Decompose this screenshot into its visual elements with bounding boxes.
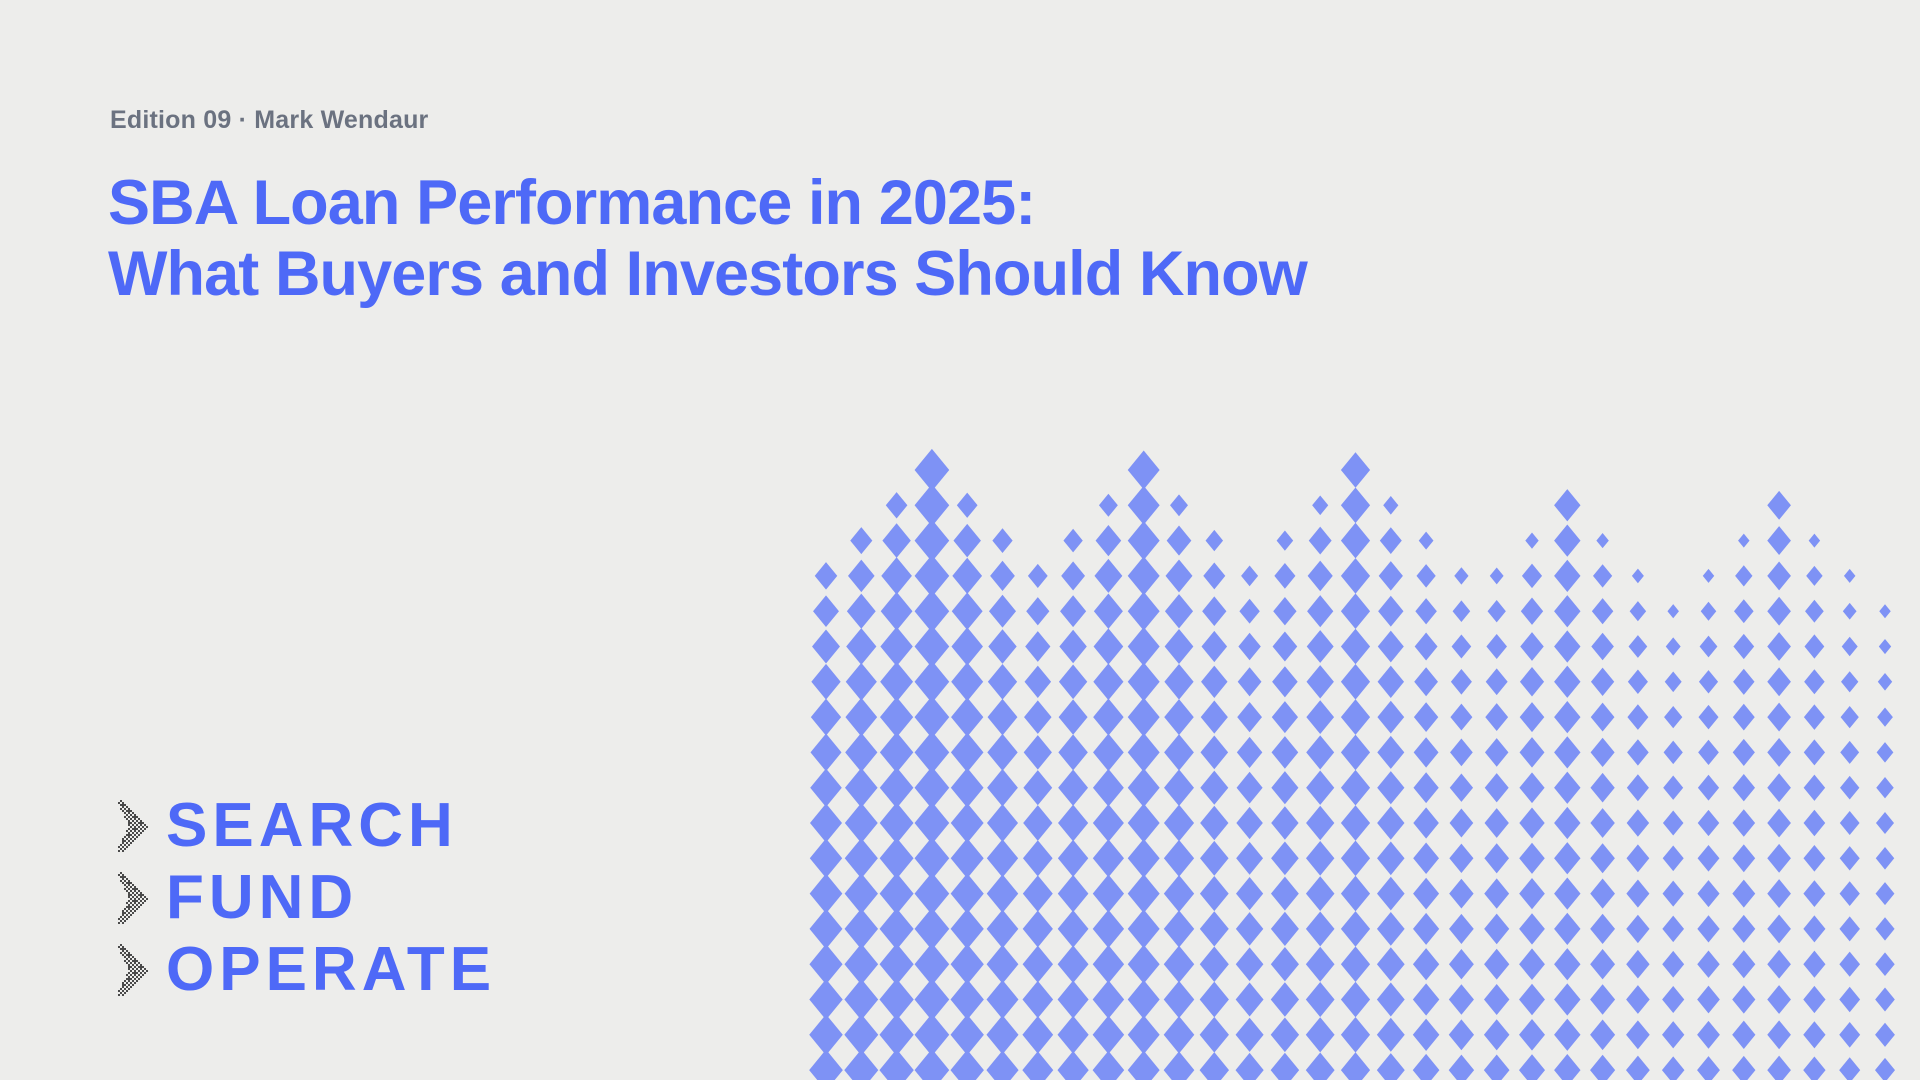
chevron-dither-cell xyxy=(134,834,136,836)
chevron-dither-cell xyxy=(144,900,146,902)
chevron-dither-cell xyxy=(128,906,130,908)
chevron-dither-cell xyxy=(136,964,138,966)
chevron-dither-cell xyxy=(122,994,124,996)
chevron-dither-cell xyxy=(126,882,128,884)
chevron-dither-cell xyxy=(130,822,132,824)
chevron-dither-cell xyxy=(122,950,124,952)
chevron-dither-cell xyxy=(128,812,130,814)
chevron-dither-cell xyxy=(130,886,132,888)
chevron-dither-cell xyxy=(122,806,124,808)
chevron-dither-cell xyxy=(132,980,134,982)
chevron-dither-cell xyxy=(130,978,132,980)
chevron-dither-cell xyxy=(124,808,126,810)
chevron-dither-cell xyxy=(136,900,138,902)
chevron-dither-cell xyxy=(138,834,140,836)
chevron-dither-cell xyxy=(128,892,130,894)
chevron-dither-cell xyxy=(140,972,142,974)
chevron-dither-cell xyxy=(128,820,130,822)
chevron-dither-cell xyxy=(126,986,128,988)
chevron-dither-cell xyxy=(128,916,130,918)
chevron-dither-cell xyxy=(118,946,120,948)
chevron-dither-cell xyxy=(120,800,122,802)
chevron-dither-cell xyxy=(132,912,134,914)
chevron-dither-cell xyxy=(140,822,142,824)
chevron-dither-cell xyxy=(124,884,126,886)
chevron-dither-cell xyxy=(126,806,128,808)
chevron-dither-cell xyxy=(122,922,124,924)
chevron-dither-cell xyxy=(138,902,140,904)
chevron-dither-cell xyxy=(140,828,142,830)
chevron-dither-cell xyxy=(132,840,134,842)
chevron-dither-cell xyxy=(124,840,126,842)
chevron-dither-cell xyxy=(126,838,128,840)
chevron-dither-cell xyxy=(124,952,126,954)
chevron-dither-cell xyxy=(140,976,142,978)
chevron-dither-cell xyxy=(118,918,120,920)
chevron-dither-cell xyxy=(122,984,124,986)
chevron-dither-cell xyxy=(136,908,138,910)
chevron-dither-cell xyxy=(134,900,136,902)
chevron-dither-cell xyxy=(128,896,130,898)
chevron-dither-cell xyxy=(134,894,136,896)
chevron-dither-cell xyxy=(128,966,130,968)
logo-row-operate: OPERATE xyxy=(110,934,496,1006)
chevron-dither-cell xyxy=(130,902,132,904)
chevron-dither-cell xyxy=(124,844,126,846)
chevron-dither-cell xyxy=(126,914,128,916)
chevron-dither-cell xyxy=(144,824,146,826)
chevron-dither-cell xyxy=(128,978,130,980)
chevron-dither-cell xyxy=(122,946,124,948)
chevron-dither-cell xyxy=(142,894,144,896)
chevron-dither-cell xyxy=(128,884,130,886)
chevron-dither-cell xyxy=(140,824,142,826)
logo-word-fund: FUND xyxy=(166,867,358,929)
chevron-dither-cell xyxy=(140,894,142,896)
chevron-dither-cell xyxy=(128,822,130,824)
chevron-dither-cell xyxy=(128,912,130,914)
chevron-dither-cell xyxy=(140,820,142,822)
chevron-dither-cell xyxy=(130,882,132,884)
edition-author-eyebrow: Edition 09 · Mark Wendaur xyxy=(110,108,428,133)
chevron-dither-cell xyxy=(132,888,134,890)
chevron-dither-cell xyxy=(128,980,130,982)
chevron-dither-cell xyxy=(124,920,126,922)
chevron-dither-cell xyxy=(136,960,138,962)
chevron-dither-cell xyxy=(126,978,128,980)
chevron-dither-cell xyxy=(122,918,124,920)
chevron-dither-cell xyxy=(136,836,138,838)
chevron-dither-cell xyxy=(136,820,138,822)
chevron-dither-cell xyxy=(144,972,146,974)
chevron-dither-cell xyxy=(128,836,130,838)
chevron-dither-cell xyxy=(130,814,132,816)
chevron-dither-cell xyxy=(138,962,140,964)
chevron-dither-cell xyxy=(130,894,132,896)
chevron-dither-cell xyxy=(132,884,134,886)
chevron-dither-cell xyxy=(134,818,136,820)
chevron-dither-cell xyxy=(136,968,138,970)
chevron-dither-cell xyxy=(126,906,128,908)
chevron-dither-cell xyxy=(138,822,140,824)
chevron-dither-cell xyxy=(132,892,134,894)
chevron-dither-cell xyxy=(128,960,130,962)
chevron-dither-cell xyxy=(142,966,144,968)
chevron-dither-cell xyxy=(134,982,136,984)
chevron-dither-cell xyxy=(128,844,130,846)
chevron-dither-cell xyxy=(134,890,136,892)
slide-content: Edition 09 · Mark Wendaur SBA Loan Perfo… xyxy=(0,0,1920,1080)
chevron-dither-cell xyxy=(134,970,136,972)
chevron-dither-cell xyxy=(132,820,134,822)
chevron-dither-cell xyxy=(130,986,132,988)
chevron-dither-cell xyxy=(122,876,124,878)
chevron-dither-cell xyxy=(118,874,120,876)
chevron-dither-cell xyxy=(136,972,138,974)
chevron-dither-cell xyxy=(134,886,136,888)
chevron-dither-cell xyxy=(126,962,128,964)
chevron-dither-cell xyxy=(132,828,134,830)
chevron-dither-cell xyxy=(122,914,124,916)
chevron-dither-cell xyxy=(132,960,134,962)
chevron-dither-cell xyxy=(134,906,136,908)
chevron-dither-cell xyxy=(124,804,126,806)
page-title: SBA Loan Performance in 2025: What Buyer… xyxy=(108,168,1307,309)
page-title-line-1: SBA Loan Performance in 2025: xyxy=(108,168,1307,239)
chevron-dither-cell xyxy=(132,836,134,838)
chevron-dither-cell xyxy=(138,898,140,900)
chevron-dither-cell xyxy=(128,882,130,884)
chevron-dither-cell xyxy=(122,850,124,852)
chevron-dither-cell xyxy=(122,954,124,956)
chevron-dither-cell xyxy=(134,974,136,976)
chevron-dither-cell xyxy=(138,894,140,896)
chevron-dither-cell xyxy=(130,974,132,976)
chevron-dither-cell xyxy=(146,826,148,828)
chevron-dither-cell xyxy=(130,810,132,812)
chevron-dither-cell xyxy=(118,922,120,924)
chevron-dither-cell xyxy=(136,896,138,898)
chevron-dither-cell xyxy=(134,838,136,840)
chevron-dither-cell xyxy=(118,850,120,852)
chevron-dither-cell xyxy=(124,888,126,890)
chevron-dither-cell xyxy=(132,984,134,986)
chevron-dither-cell xyxy=(134,898,136,900)
chevron-dither-cell xyxy=(132,832,134,834)
chevron-dither-cell xyxy=(128,972,130,974)
chevron-dither-cell xyxy=(122,804,124,806)
chevron-dither-cell xyxy=(128,954,130,956)
chevron-dither-cell xyxy=(120,920,122,922)
chevron-dither-cell xyxy=(132,972,134,974)
chevron-dither-cell xyxy=(124,908,126,910)
chevron-dither-cell xyxy=(138,826,140,828)
chevron-dither-cell xyxy=(134,822,136,824)
chevron-dither-cell xyxy=(134,972,136,974)
chevron-dither-cell xyxy=(128,988,130,990)
chevron-dither-cell xyxy=(136,824,138,826)
chevron-dither-cell xyxy=(140,892,142,894)
chevron-dither-cell xyxy=(122,810,124,812)
chevron-dither-cell xyxy=(130,830,132,832)
chevron-dither-cell xyxy=(126,818,128,820)
chevron-dither-cell xyxy=(120,844,122,846)
chevron-dither-cell xyxy=(124,992,126,994)
chevron-dither-cell xyxy=(132,976,134,978)
chevron-dither-cell xyxy=(142,902,144,904)
chevron-dither-cell xyxy=(134,966,136,968)
chevron-dither-cell xyxy=(134,830,136,832)
chevron-dither-cell xyxy=(136,904,138,906)
chevron-dither-cell xyxy=(122,842,124,844)
chevron-dither-cell xyxy=(120,992,122,994)
chevron-dither-cell xyxy=(136,816,138,818)
chevron-dither-cell xyxy=(136,832,138,834)
logo-row-search: SEARCH xyxy=(110,790,496,862)
chevron-dither-cell xyxy=(120,804,122,806)
chevron-dither-cell xyxy=(120,876,122,878)
chevron-dither-cell xyxy=(136,888,138,890)
chevron-dither-cell xyxy=(130,958,132,960)
chevron-dither-cell xyxy=(128,976,130,978)
chevron-dither-cell xyxy=(122,838,124,840)
chevron-dither-cell xyxy=(128,840,130,842)
chevron-dither-cell xyxy=(122,874,124,876)
chevron-dither-cell xyxy=(126,810,128,812)
chevron-dither-cell xyxy=(120,952,122,954)
chevron-dither-cell xyxy=(128,824,130,826)
chevron-dither-cell xyxy=(132,900,134,902)
chevron-dither-cell xyxy=(134,958,136,960)
chevron-dither-cell xyxy=(130,970,132,972)
chevron-dither-cell xyxy=(126,834,128,836)
chevron-dither-cell xyxy=(140,966,142,968)
chevron-dither-cell xyxy=(132,904,134,906)
chevron-dither-cell xyxy=(120,948,122,950)
chevron-dither-cell xyxy=(124,956,126,958)
chevron-dither-cell xyxy=(132,956,134,958)
chevron-dither-cell xyxy=(128,828,130,830)
chevron-dither-cell xyxy=(128,984,130,986)
chevron-dither-cell xyxy=(126,830,128,832)
chevron-dither-cell xyxy=(134,978,136,980)
chevron-dither-cell xyxy=(138,974,140,976)
chevron-dither-cell xyxy=(130,910,132,912)
chevron-dither-cell xyxy=(128,968,130,970)
chevron-dither-cell xyxy=(128,900,130,902)
chevron-dither-cell xyxy=(130,982,132,984)
chevron-dither-cell xyxy=(134,816,136,818)
chevron-dither-cell xyxy=(118,990,120,992)
chevron-dither-cell xyxy=(130,890,132,892)
chevron-dither-cell xyxy=(140,900,142,902)
chevron-dither-cell xyxy=(124,876,126,878)
chevron-dither-cell xyxy=(124,960,126,962)
chevron-dither-cell xyxy=(126,958,128,960)
chevron-dither-cell xyxy=(126,990,128,992)
chevron-dither-cell xyxy=(142,898,144,900)
chevron-dither-cell xyxy=(126,814,128,816)
chevron-dither-cell xyxy=(124,912,126,914)
logo-word-search: SEARCH xyxy=(166,795,458,857)
chevron-dither-cell xyxy=(122,878,124,880)
chevron-dither-cell xyxy=(144,828,146,830)
chevron-dither-cell xyxy=(122,982,124,984)
chevron-dither-cell xyxy=(138,906,140,908)
chevron-dither-cell xyxy=(120,944,122,946)
chevron-dither-cell xyxy=(138,830,140,832)
chevron-dither-cell xyxy=(122,802,124,804)
chevron-dither-cell xyxy=(128,952,130,954)
chevron-dither-cell xyxy=(142,974,144,976)
chevron-dither-cell xyxy=(128,816,130,818)
chevron-dither-cell xyxy=(136,892,138,894)
chevron-dither-cell xyxy=(120,880,122,882)
chevron-dither-cell xyxy=(136,976,138,978)
chevron-dither-cell xyxy=(140,904,142,906)
chevron-dither-cell xyxy=(122,948,124,950)
chevron-dither-cell xyxy=(128,832,130,834)
chevron-dither-cell xyxy=(126,878,128,880)
chevron-dither-cell xyxy=(120,988,122,990)
chevron-dither-cell xyxy=(128,904,130,906)
chevron-dither-cell xyxy=(144,896,146,898)
chevron-dither-cell xyxy=(124,984,126,986)
chevron-dither-cell xyxy=(120,808,122,810)
chevron-dither-cell xyxy=(130,954,132,956)
chevron-dither-cell xyxy=(130,838,132,840)
chevron-dither-cell xyxy=(140,968,142,970)
chevron-dither-cell xyxy=(132,816,134,818)
chevron-dither-cell xyxy=(130,914,132,916)
chevron-dither-cell xyxy=(126,842,128,844)
logo-word-operate: OPERATE xyxy=(166,939,496,1001)
chevron-dither-cell xyxy=(126,890,128,892)
chevron-dither-cell xyxy=(130,966,132,968)
chevron-dither-cell xyxy=(132,964,134,966)
chevron-dither-cell xyxy=(140,896,142,898)
chevron-dither-cell xyxy=(138,890,140,892)
chevron-dither-cell xyxy=(132,908,134,910)
chevron-dither-cell xyxy=(132,812,134,814)
page-title-line-2: What Buyers and Investors Should Know xyxy=(108,239,1307,310)
chevron-dither-cell xyxy=(134,888,136,890)
chevron-dither-cell xyxy=(138,818,140,820)
chevron-dither-cell xyxy=(128,964,130,966)
chevron-dither-cell xyxy=(142,970,144,972)
chevron-dither-cell xyxy=(138,970,140,972)
chevron-dither-cell xyxy=(144,968,146,970)
chevron-dither-cell xyxy=(138,966,140,968)
chevron-dither-cell xyxy=(126,918,128,920)
chevron-dither-cell xyxy=(132,824,134,826)
chevron-dither-cell xyxy=(134,814,136,816)
chevron-dither-cell xyxy=(130,898,132,900)
chevron-dither-cell xyxy=(128,956,130,958)
chevron-dither-cell xyxy=(126,886,128,888)
chevron-dither-cell xyxy=(128,908,130,910)
chevron-dither-cell xyxy=(124,880,126,882)
chevron-dither-cell xyxy=(128,834,130,836)
chevron-dither-cell xyxy=(126,950,128,952)
chevron-dither-cell xyxy=(132,896,134,898)
chevron-dither-cell xyxy=(122,910,124,912)
chevron-dither-cell xyxy=(126,982,128,984)
chevron-dither-cell xyxy=(130,962,132,964)
chevron-dither-cell xyxy=(122,846,124,848)
chevron-dither-cell xyxy=(128,894,130,896)
chevron-dither-cell xyxy=(118,802,120,804)
chevron-dither-cell xyxy=(132,968,134,970)
chevron-dither-cell xyxy=(120,916,122,918)
search-fund-operate-logo[interactable]: SEARCH FUND OPERATE xyxy=(110,790,496,1006)
chevron-dither-cell xyxy=(124,980,126,982)
chevron-dither-cell xyxy=(130,818,132,820)
chevron-dither-cell xyxy=(124,948,126,950)
chevron-dither-cell xyxy=(126,954,128,956)
chevron-dither-cell xyxy=(122,840,124,842)
chevron-dither-cell xyxy=(122,990,124,992)
chevron-dither-cell xyxy=(140,964,142,966)
chevron-dither-cell xyxy=(128,810,130,812)
chevron-dither-cell xyxy=(122,986,124,988)
chevron-right-dithered-icon xyxy=(110,942,152,998)
chevron-dither-cell xyxy=(128,888,130,890)
logo-row-fund: FUND xyxy=(110,862,496,934)
chevron-dither-cell xyxy=(140,832,142,834)
chevron-dither-cell xyxy=(142,830,144,832)
chevron-dither-cell xyxy=(126,974,128,976)
chevron-dither-cell xyxy=(134,910,136,912)
chevron-dither-cell xyxy=(124,836,126,838)
chevron-dither-cell xyxy=(126,910,128,912)
chevron-dither-cell xyxy=(142,826,144,828)
chevron-dither-cell xyxy=(120,872,122,874)
chevron-dither-cell xyxy=(136,980,138,982)
chevron-dither-cell xyxy=(130,834,132,836)
chevron-dither-cell xyxy=(134,826,136,828)
chevron-dither-cell xyxy=(142,822,144,824)
chevron-right-dithered-icon xyxy=(110,798,152,854)
chevron-dither-cell xyxy=(138,978,140,980)
chevron-dither-cell xyxy=(120,848,122,850)
chevron-dither-cell xyxy=(130,842,132,844)
chevron-dither-cell xyxy=(130,906,132,908)
chevron-dither-cell xyxy=(134,828,136,830)
chevron-dither-cell xyxy=(122,912,124,914)
chevron-dither-cell xyxy=(124,916,126,918)
chevron-dither-cell xyxy=(126,902,128,904)
chevron-dither-cell xyxy=(124,848,126,850)
chevron-dither-cell xyxy=(128,880,130,882)
chevron-dither-cell xyxy=(118,994,120,996)
chevron-right-dithered-icon xyxy=(110,870,152,926)
chevron-dither-cell xyxy=(130,826,132,828)
chevron-dither-cell xyxy=(124,816,126,818)
chevron-dither-cell xyxy=(136,828,138,830)
chevron-dither-cell xyxy=(126,846,128,848)
chevron-dither-cell xyxy=(124,812,126,814)
chevron-dither-cell xyxy=(134,960,136,962)
newsletter-cover-slide: Edition 09 · Mark Wendaur SBA Loan Perfo… xyxy=(0,0,1920,1080)
chevron-dither-cell xyxy=(146,970,148,972)
chevron-dither-cell xyxy=(124,988,126,990)
chevron-dither-cell xyxy=(118,846,120,848)
chevron-dither-cell xyxy=(134,962,136,964)
chevron-dither-cell xyxy=(146,898,148,900)
chevron-dither-cell xyxy=(134,902,136,904)
chevron-dither-cell xyxy=(128,808,130,810)
